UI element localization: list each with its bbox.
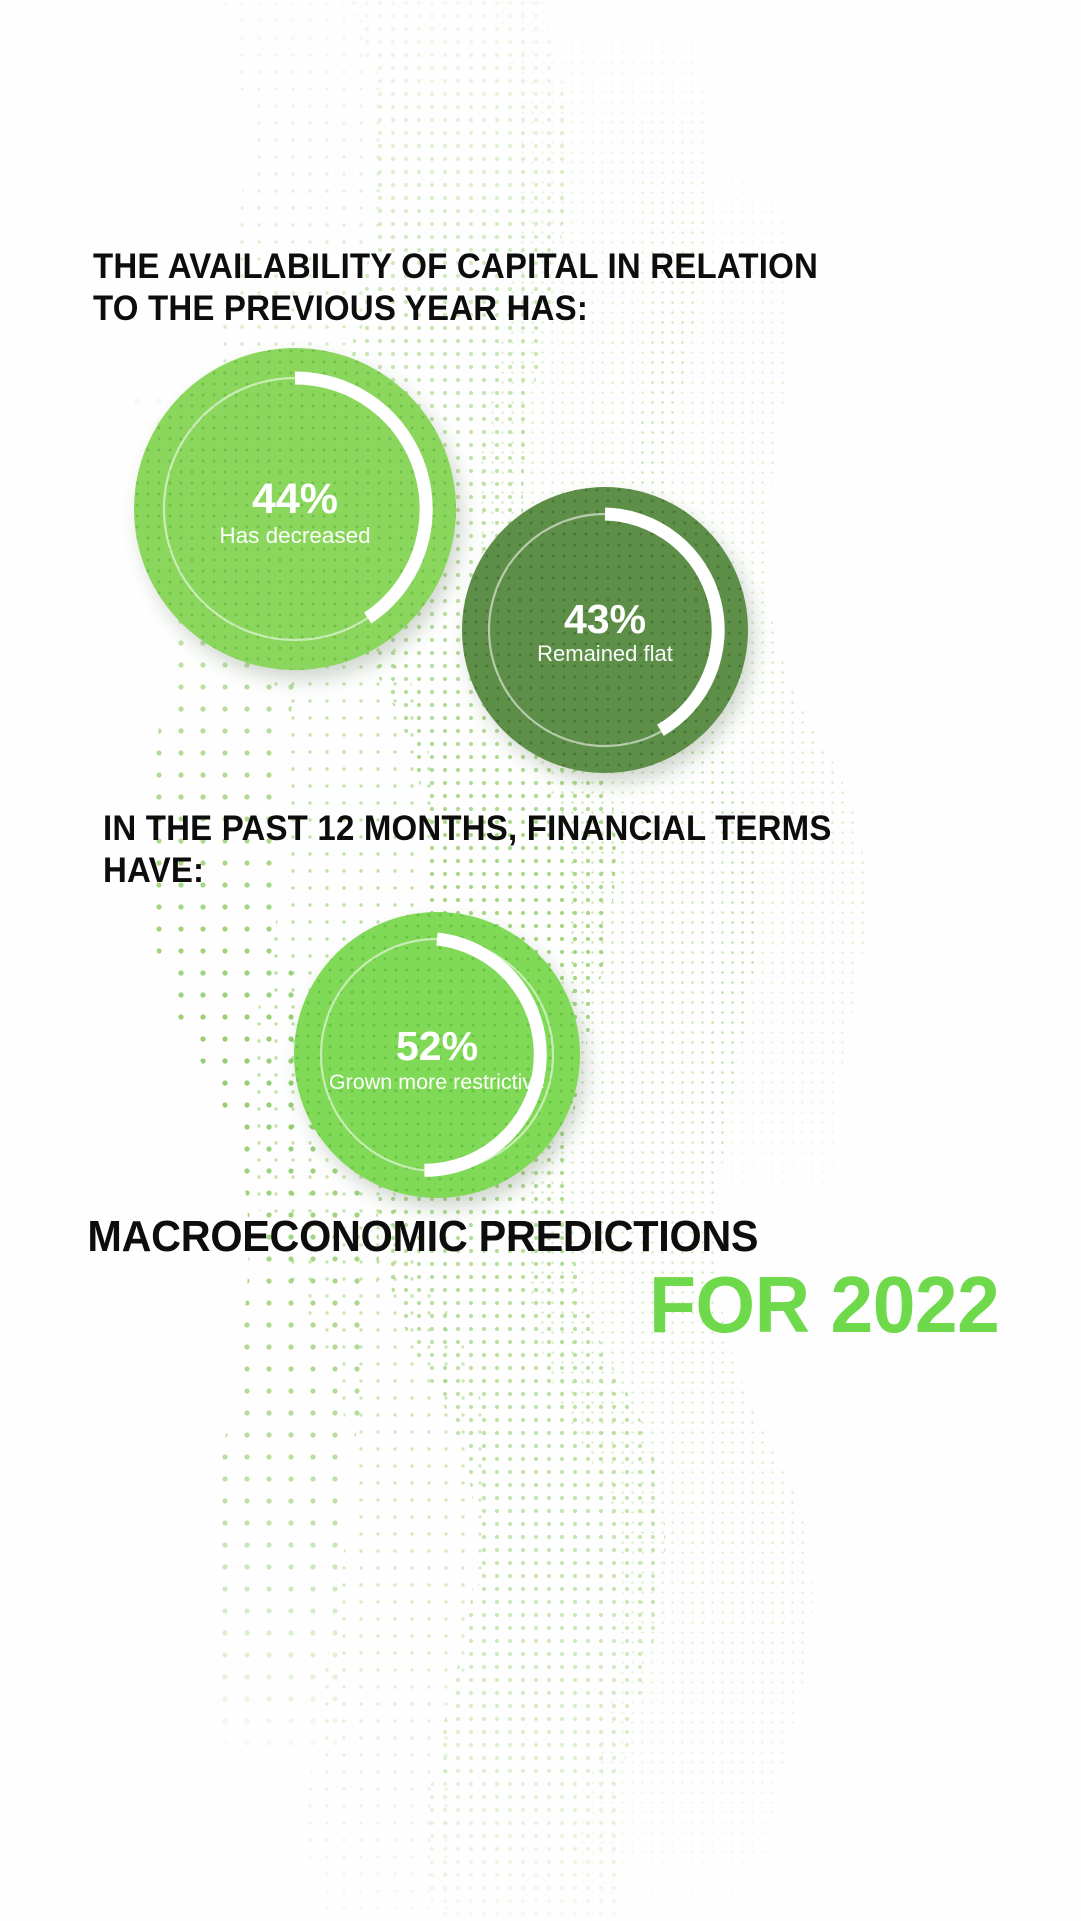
donut-caption: Remained flat xyxy=(537,642,673,667)
donut-chart-has-decreased: 44% Has decreased xyxy=(134,348,456,670)
infographic-page: THE AVAILABILITY OF CAPITAL IN RELATION … xyxy=(0,0,1081,1921)
donut-percent-value: 43% xyxy=(564,599,646,640)
footer-title-main: MACROECONOMIC PREDICTIONS xyxy=(0,1215,1016,1259)
donut-caption: Grown more restrictive xyxy=(329,1070,545,1094)
donut-caption: Has decreased xyxy=(219,523,370,548)
donut-percent-value: 44% xyxy=(252,478,338,521)
donut-chart-grown-more-restrictive: 52% Grown more restrictive xyxy=(294,912,580,1198)
footer-title-year: FOR 2022 xyxy=(43,1263,1081,1347)
donut-label-group: 43% Remained flat xyxy=(462,487,748,773)
donut-percent-value: 52% xyxy=(396,1026,478,1067)
donut-chart-remained-flat: 43% Remained flat xyxy=(462,487,748,773)
heading-financial-terms: IN THE PAST 12 MONTHS, FINANCIAL TERMS H… xyxy=(103,808,847,891)
donut-label-group: 44% Has decreased xyxy=(134,348,456,670)
heading-availability-of-capital: THE AVAILABILITY OF CAPITAL IN RELATION … xyxy=(93,246,837,329)
footer-title-block: MACROECONOMIC PREDICTIONS FOR 2022 xyxy=(0,1215,1081,1347)
donut-label-group: 52% Grown more restrictive xyxy=(294,912,580,1198)
